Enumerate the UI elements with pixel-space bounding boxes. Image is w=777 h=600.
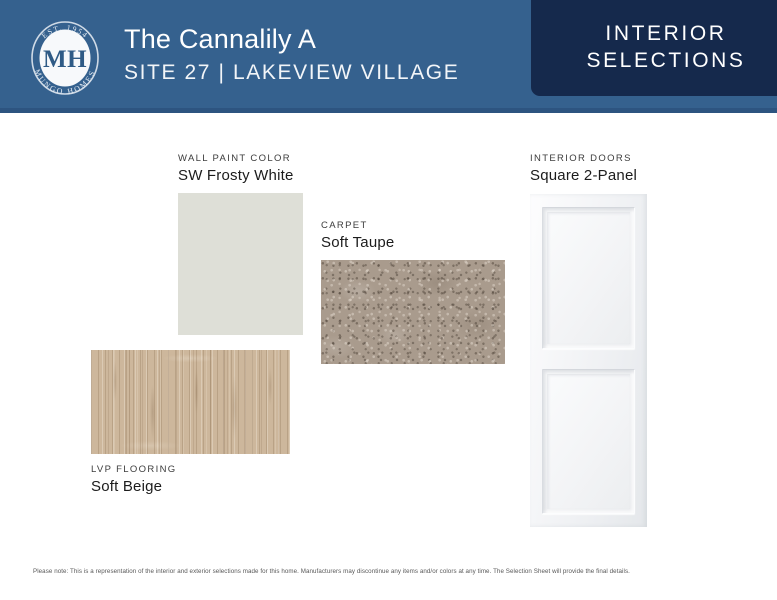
interior-selections-badge: INTERIOR SELECTIONS [531,0,777,96]
mungo-homes-logo: EST. 1954 MUNGO HOMES MH [19,12,111,104]
selection-label-lvp-flooring: LVP FLOORING [91,463,290,476]
badge-line-2: SELECTIONS [586,47,745,74]
svg-text:MH: MH [43,46,87,73]
door-panel-top-inner [547,212,630,344]
door-panel-bottom [542,369,635,514]
swatch-lvp-flooring [91,350,290,454]
selection-label-wall-paint: WALL PAINT COLOR [178,152,303,165]
swatch-carpet [321,260,505,364]
selection-wall-paint: WALL PAINT COLOR SW Frosty White [178,152,303,335]
carpet-noise-layer [321,260,505,364]
swatch-interior-door [530,194,647,527]
page-footer: Please note: This is a representation of… [0,553,777,600]
selection-value-interior-doors: Square 2-Panel [530,166,647,186]
selection-label-interior-doors: INTERIOR DOORS [530,152,647,165]
selection-carpet: CARPET Soft Taupe [321,219,505,364]
selections-canvas: WALL PAINT COLOR SW Frosty White CARPET … [0,113,777,553]
badge-line-1: INTERIOR [605,20,726,47]
lvp-plank-seam [223,350,224,454]
page-subtitle: SITE 27 | LAKEVIEW VILLAGE [124,58,514,88]
selection-label-carpet: CARPET [321,219,505,232]
lvp-plank-seam [129,350,130,454]
selection-interior-doors: INTERIOR DOORS Square 2-Panel [530,152,647,527]
door-panel-bottom-inner [547,374,630,509]
page-header: EST. 1954 MUNGO HOMES MH The Cannalily A… [0,0,777,113]
footer-disclaimer: Please note: This is a representation of… [33,567,745,576]
lvp-grain-layer [91,350,290,454]
selection-lvp-flooring: LVP FLOORING Soft Beige [91,350,290,497]
selection-value-wall-paint: SW Frosty White [178,166,303,186]
swatch-wall-paint [178,193,303,335]
selection-value-carpet: Soft Taupe [321,233,505,253]
page-title: The Cannalily A [124,22,514,56]
door-panel-top [542,207,635,349]
selection-value-lvp-flooring: Soft Beige [91,477,290,497]
header-title-block: The Cannalily A SITE 27 | LAKEVIEW VILLA… [124,22,514,88]
